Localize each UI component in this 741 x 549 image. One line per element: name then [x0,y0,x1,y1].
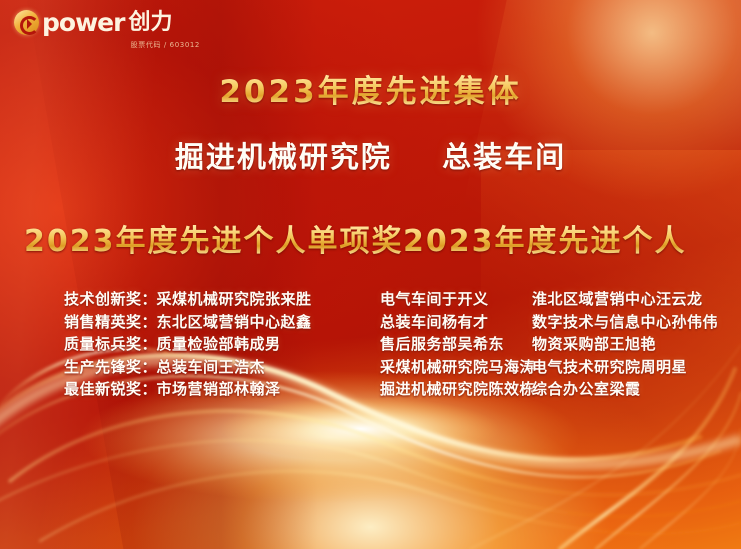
list-item: 技术创新奖：采煤机械研究院张来胜 [64,288,312,311]
list-item: 采煤机械研究院马海涛 电气技术研究院周明星 [380,356,718,379]
company-logo: power 创力 股票代码 / 603012 [14,10,204,50]
list-item: 电气车间于开义 淮北区域营销中心汪云龙 [380,288,718,311]
collective-units: 掘进机械研究院 总装车间 [0,134,741,176]
separator: ： [142,335,157,353]
separator: ： [142,380,157,398]
logo-wordmark-cn: 创力 [128,12,172,34]
honoree: 电气车间于开义 [380,288,532,311]
recipient: 东北区域营销中心赵鑫 [157,313,312,331]
section-heading-individual-awards: 2023年度先进个人单项奖 [24,216,404,260]
recipient: 总装车间王浩杰 [157,358,266,376]
separator: ： [142,358,157,376]
individual-awards-list: 技术创新奖：采煤机械研究院张来胜 销售精英奖：东北区域营销中心赵鑫 质量标兵奖：… [64,288,312,401]
list-item: 最佳新锐奖：市场营销部林翰泽 [64,378,312,401]
separator: ： [142,290,157,308]
honoree: 综合办公室梁霞 [532,378,641,401]
recipient: 采煤机械研究院张来胜 [157,290,312,308]
recipient: 质量检验部韩成男 [157,335,281,353]
honoree: 总装车间杨有才 [380,311,532,334]
list-item: 售后服务部吴希东 物资采购部王旭艳 [380,333,718,356]
honoree: 电气技术研究院周明星 [532,356,687,379]
stock-code: 股票代码 / 603012 [14,40,204,50]
list-item: 生产先锋奖：总装车间王浩杰 [64,356,312,379]
award-name: 生产先锋奖 [64,358,142,376]
honoree: 售后服务部吴希东 [380,333,532,356]
award-name: 技术创新奖 [64,290,142,308]
logo-wordmark: power [42,10,124,35]
collective-unit-2: 总装车间 [442,140,566,174]
award-name: 最佳新锐奖 [64,380,142,398]
poster-canvas: power 创力 股票代码 / 603012 2023年度先进集体 掘进机械研究… [0,0,741,549]
honoree: 掘进机械研究院陈效栋 [380,378,532,401]
page-title: 2023年度先进集体 [0,66,741,111]
honoree: 物资采购部王旭艳 [532,333,656,356]
list-item: 质量标兵奖：质量检验部韩成男 [64,333,312,356]
recipient: 市场营销部林翰泽 [157,380,281,398]
award-name: 质量标兵奖 [64,335,142,353]
list-item: 销售精英奖：东北区域营销中心赵鑫 [64,311,312,334]
honoree: 数字技术与信息中心孙伟伟 [532,311,718,334]
collective-unit-1: 掘进机械研究院 [175,140,392,174]
power-ring-icon [14,10,39,35]
individual-honorees-list: 电气车间于开义 淮北区域营销中心汪云龙 总装车间杨有才 数字技术与信息中心孙伟伟… [380,288,718,401]
honoree: 淮北区域营销中心汪云龙 [532,288,703,311]
award-name: 销售精英奖 [64,313,142,331]
separator: ： [142,313,157,331]
honoree: 采煤机械研究院马海涛 [380,356,532,379]
section-heading-individual: 2023年度先进个人 [403,216,687,260]
list-item: 掘进机械研究院陈效栋 综合办公室梁霞 [380,378,718,401]
list-item: 总装车间杨有才 数字技术与信息中心孙伟伟 [380,311,718,334]
